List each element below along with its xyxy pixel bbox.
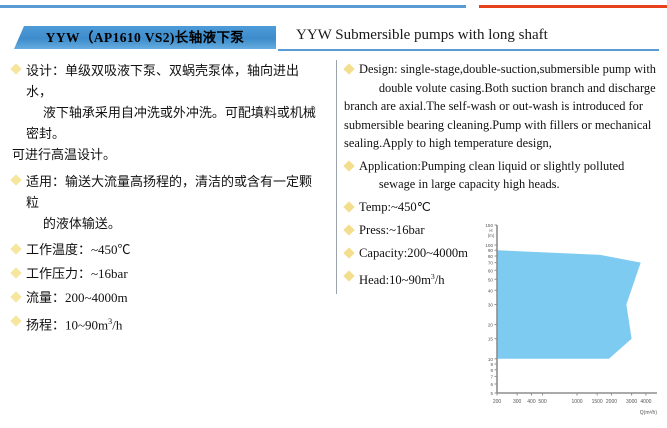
design-line-1: 设计：单级双吸液下泵、双蜗壳泵体，轴向进出水， xyxy=(26,60,322,102)
spec-value: 200~4000m xyxy=(65,290,128,305)
spec-value: 10~90m xyxy=(389,273,431,287)
spec-label: 工作温度： xyxy=(26,242,91,257)
spec-label: Temp: xyxy=(359,200,391,214)
diamond-bullet-icon xyxy=(10,267,21,278)
chart-y-tick-label: 50 xyxy=(488,277,494,282)
design-text-zh: 设计：单级双吸液下泵、双蜗壳泵体，轴向进出水， 液下轴承采用自冲洗或外冲洗。可配… xyxy=(26,60,322,165)
spec-temperature-en: Temp:~450℃ xyxy=(359,198,431,217)
application-en-line-1: Application:Pumping clean liquid or slig… xyxy=(359,159,624,173)
page-header: YYW（AP1610 VS2)长轴液下泵 YYW Submersible pum… xyxy=(0,26,667,50)
design-text-en: Design: single-stage,double-suction,subm… xyxy=(359,60,656,153)
diamond-bullet-icon xyxy=(343,63,354,74)
chart-y-tick-label: 40 xyxy=(488,288,494,293)
chart-y-tick-label: 9 xyxy=(490,362,493,367)
design-en-line-2: double volute casing.Both suction branch… xyxy=(359,79,656,98)
spec-temperature-zh: 工作温度：~450℃ xyxy=(26,240,131,260)
chart-x-tick-label: 300 xyxy=(513,399,522,405)
header-underline xyxy=(278,49,659,51)
spec-capacity-en: Capacity:200~4000m xyxy=(359,244,468,263)
spec-row-head-zh: 扬程：10~90m3/h xyxy=(12,312,322,335)
chart-y-axis-unit: (m) xyxy=(488,233,495,238)
left-paragraph-application: 适用：输送大流量高扬程的，清洁的或含有一定颗粒 的液体输送。 xyxy=(12,171,322,234)
diamond-bullet-icon xyxy=(10,243,21,254)
spec-label: 扬程： xyxy=(26,317,65,332)
spec-value: ~450℃ xyxy=(391,200,431,214)
spec-label: Press: xyxy=(359,223,389,237)
design-line-3: 可进行高温设计。 xyxy=(12,144,322,165)
design-en-line-5: sealing.Apply to high temperature design… xyxy=(344,134,656,153)
right-paragraph-application: Application:Pumping clean liquid or slig… xyxy=(345,157,658,194)
spec-label: Capacity: xyxy=(359,246,407,260)
spec-label: 流量： xyxy=(26,290,65,305)
chart-y-tick-label: 8 xyxy=(490,368,493,373)
application-line-2: 的液体输送。 xyxy=(26,213,322,234)
product-catalog-page: YYW（AP1610 VS2)长轴液下泵 YYW Submersible pum… xyxy=(0,0,667,428)
spec-value: ~16bar xyxy=(91,266,128,281)
top-rule-blue xyxy=(0,5,466,8)
application-line-1: 适用：输送大流量高扬程的，清洁的或含有一定颗粒 xyxy=(26,171,322,213)
chart-y-tick-label: 10 xyxy=(488,357,494,362)
spec-row-temperature-zh: 工作温度：~450℃ xyxy=(12,240,322,260)
spec-label: 工作压力： xyxy=(26,266,91,281)
diamond-bullet-icon xyxy=(343,224,354,235)
application-text-en: Application:Pumping clean liquid or slig… xyxy=(359,157,624,194)
top-rule-red xyxy=(479,5,667,8)
page-title-en: YYW Submersible pumps with long shaft xyxy=(296,27,548,44)
spec-unit: /h xyxy=(112,317,122,332)
chart-y-tick-label: 70 xyxy=(488,261,494,266)
spec-value: 10~90m xyxy=(65,317,108,332)
design-en-line-1: Design: single-stage,double-suction,subm… xyxy=(359,62,656,76)
chart-y-tick-label: 7 xyxy=(490,374,493,379)
spec-pressure-zh: 工作压力：~16bar xyxy=(26,264,128,284)
design-line-2: 液下轴承采用自冲洗或外冲洗。可配填料或机械密封。 xyxy=(26,102,322,144)
design-en-line-3: branch are axial.The self-wash or out-wa… xyxy=(344,97,656,116)
left-paragraph-design: 设计：单级双吸液下泵、双蜗壳泵体，轴向进出水， 液下轴承采用自冲洗或外冲洗。可配… xyxy=(12,60,322,165)
diamond-bullet-icon xyxy=(343,247,354,258)
chart-x-tick-label: 2000 xyxy=(606,399,617,405)
application-en-line-2: sewage in large capacity high heads. xyxy=(359,175,624,194)
chart-x-tick-label: 1500 xyxy=(592,399,603,405)
chart-y-tick-label: 5 xyxy=(490,391,493,396)
left-column: 设计：单级双吸液下泵、双蜗壳泵体，轴向进出水， 液下轴承采用自冲洗或外冲洗。可配… xyxy=(12,60,322,339)
chart-area-series xyxy=(497,250,641,359)
chart-y-tick-label: 20 xyxy=(488,323,494,328)
chart-y-tick-label: 100 xyxy=(485,243,493,248)
diamond-bullet-icon xyxy=(10,174,21,185)
spec-value: ~16bar xyxy=(389,223,425,237)
spec-row-temperature-en: Temp:~450℃ xyxy=(345,198,658,217)
performance-chart: 5678910152030405060708090100150H(m)20030… xyxy=(471,217,663,423)
chart-y-tick-label: 6 xyxy=(490,382,493,387)
spec-value: 200~4000m xyxy=(407,246,468,260)
diamond-bullet-icon xyxy=(343,201,354,212)
diamond-bullet-icon xyxy=(10,315,21,326)
chart-x-tick-label: 200 xyxy=(493,399,502,405)
performance-chart-svg: 5678910152030405060708090100150H(m)20030… xyxy=(471,217,663,423)
chart-x-tick-label: 500 xyxy=(538,399,547,405)
chart-y-tick-label: 30 xyxy=(488,302,494,307)
diamond-bullet-icon xyxy=(343,160,354,171)
banner-title-zh: YYW（AP1610 VS2)长轴液下泵 xyxy=(14,26,276,49)
chart-y-tick-label: 60 xyxy=(488,268,494,273)
chart-y-tick-label: 80 xyxy=(488,254,494,259)
chart-x-axis-label: Q(m³/h) xyxy=(640,410,658,416)
right-paragraph-design: Design: single-stage,double-suction,subm… xyxy=(345,60,658,153)
chart-x-tick-label: 1000 xyxy=(571,399,582,405)
application-text-zh: 适用：输送大流量高扬程的，清洁的或含有一定颗粒 的液体输送。 xyxy=(26,171,322,234)
chart-y-tick-label: 90 xyxy=(488,248,494,253)
diamond-bullet-icon xyxy=(343,270,354,281)
spec-value: ~450℃ xyxy=(91,242,131,257)
spec-capacity-zh: 流量：200~4000m xyxy=(26,288,128,308)
spec-row-capacity-zh: 流量：200~4000m xyxy=(12,288,322,308)
chart-y-tick-label: 15 xyxy=(488,337,494,342)
chart-x-tick-label: 4000 xyxy=(640,399,651,405)
spec-head-en: Head:10~90m3/h xyxy=(359,267,445,290)
design-en-line-4: submersible bearing cleaning.Pump with f… xyxy=(344,116,656,135)
chart-x-tick-label: 400 xyxy=(527,399,536,405)
chart-x-tick-label: 3000 xyxy=(626,399,637,405)
spec-pressure-en: Press:~16bar xyxy=(359,221,425,240)
diamond-bullet-icon xyxy=(10,63,21,74)
spec-row-pressure-zh: 工作压力：~16bar xyxy=(12,264,322,284)
spec-head-zh: 扬程：10~90m3/h xyxy=(26,312,122,335)
spec-unit: /h xyxy=(435,273,445,287)
spec-label: Head: xyxy=(359,273,389,287)
diamond-bullet-icon xyxy=(10,291,21,302)
